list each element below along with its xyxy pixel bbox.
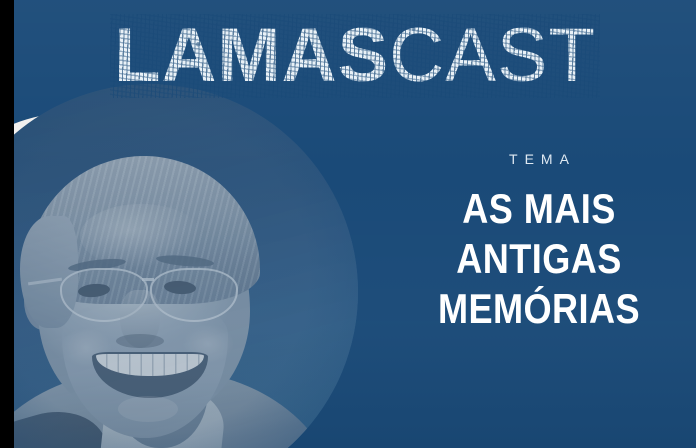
portrait-nose-shadow: [116, 334, 164, 348]
glasses-lens-right: [150, 268, 238, 322]
logo-text-wrap: LAMASCAST: [114, 18, 596, 94]
portrait-chin-highlight: [118, 396, 178, 422]
lamascast-logo: LAMASCAST: [14, 18, 696, 94]
episode-title-line-2: ANTIGAS: [392, 234, 686, 284]
left-edge-gutter: [0, 0, 14, 448]
logo-word-lamas: LAMAS: [114, 18, 389, 94]
portrait-circle: [14, 84, 358, 448]
eyebrow-label: TEMA: [368, 151, 696, 167]
episode-title-line-1: AS MAIS: [392, 184, 686, 234]
episode-title: AS MAIS ANTIGAS MEMÓRIAS: [392, 184, 686, 334]
portrait-teeth-detail: [96, 354, 204, 376]
podcast-episode-cover: LAMASCAST TEMA AS MAIS ANTIGAS MEMÓRIAS: [0, 0, 696, 448]
cover-card: LAMASCAST TEMA AS MAIS ANTIGAS MEMÓRIAS: [14, 0, 696, 448]
host-portrait-icon: [14, 84, 358, 448]
logo-word-cast: CAST: [389, 18, 596, 94]
episode-title-line-3: MEMÓRIAS: [392, 284, 686, 334]
